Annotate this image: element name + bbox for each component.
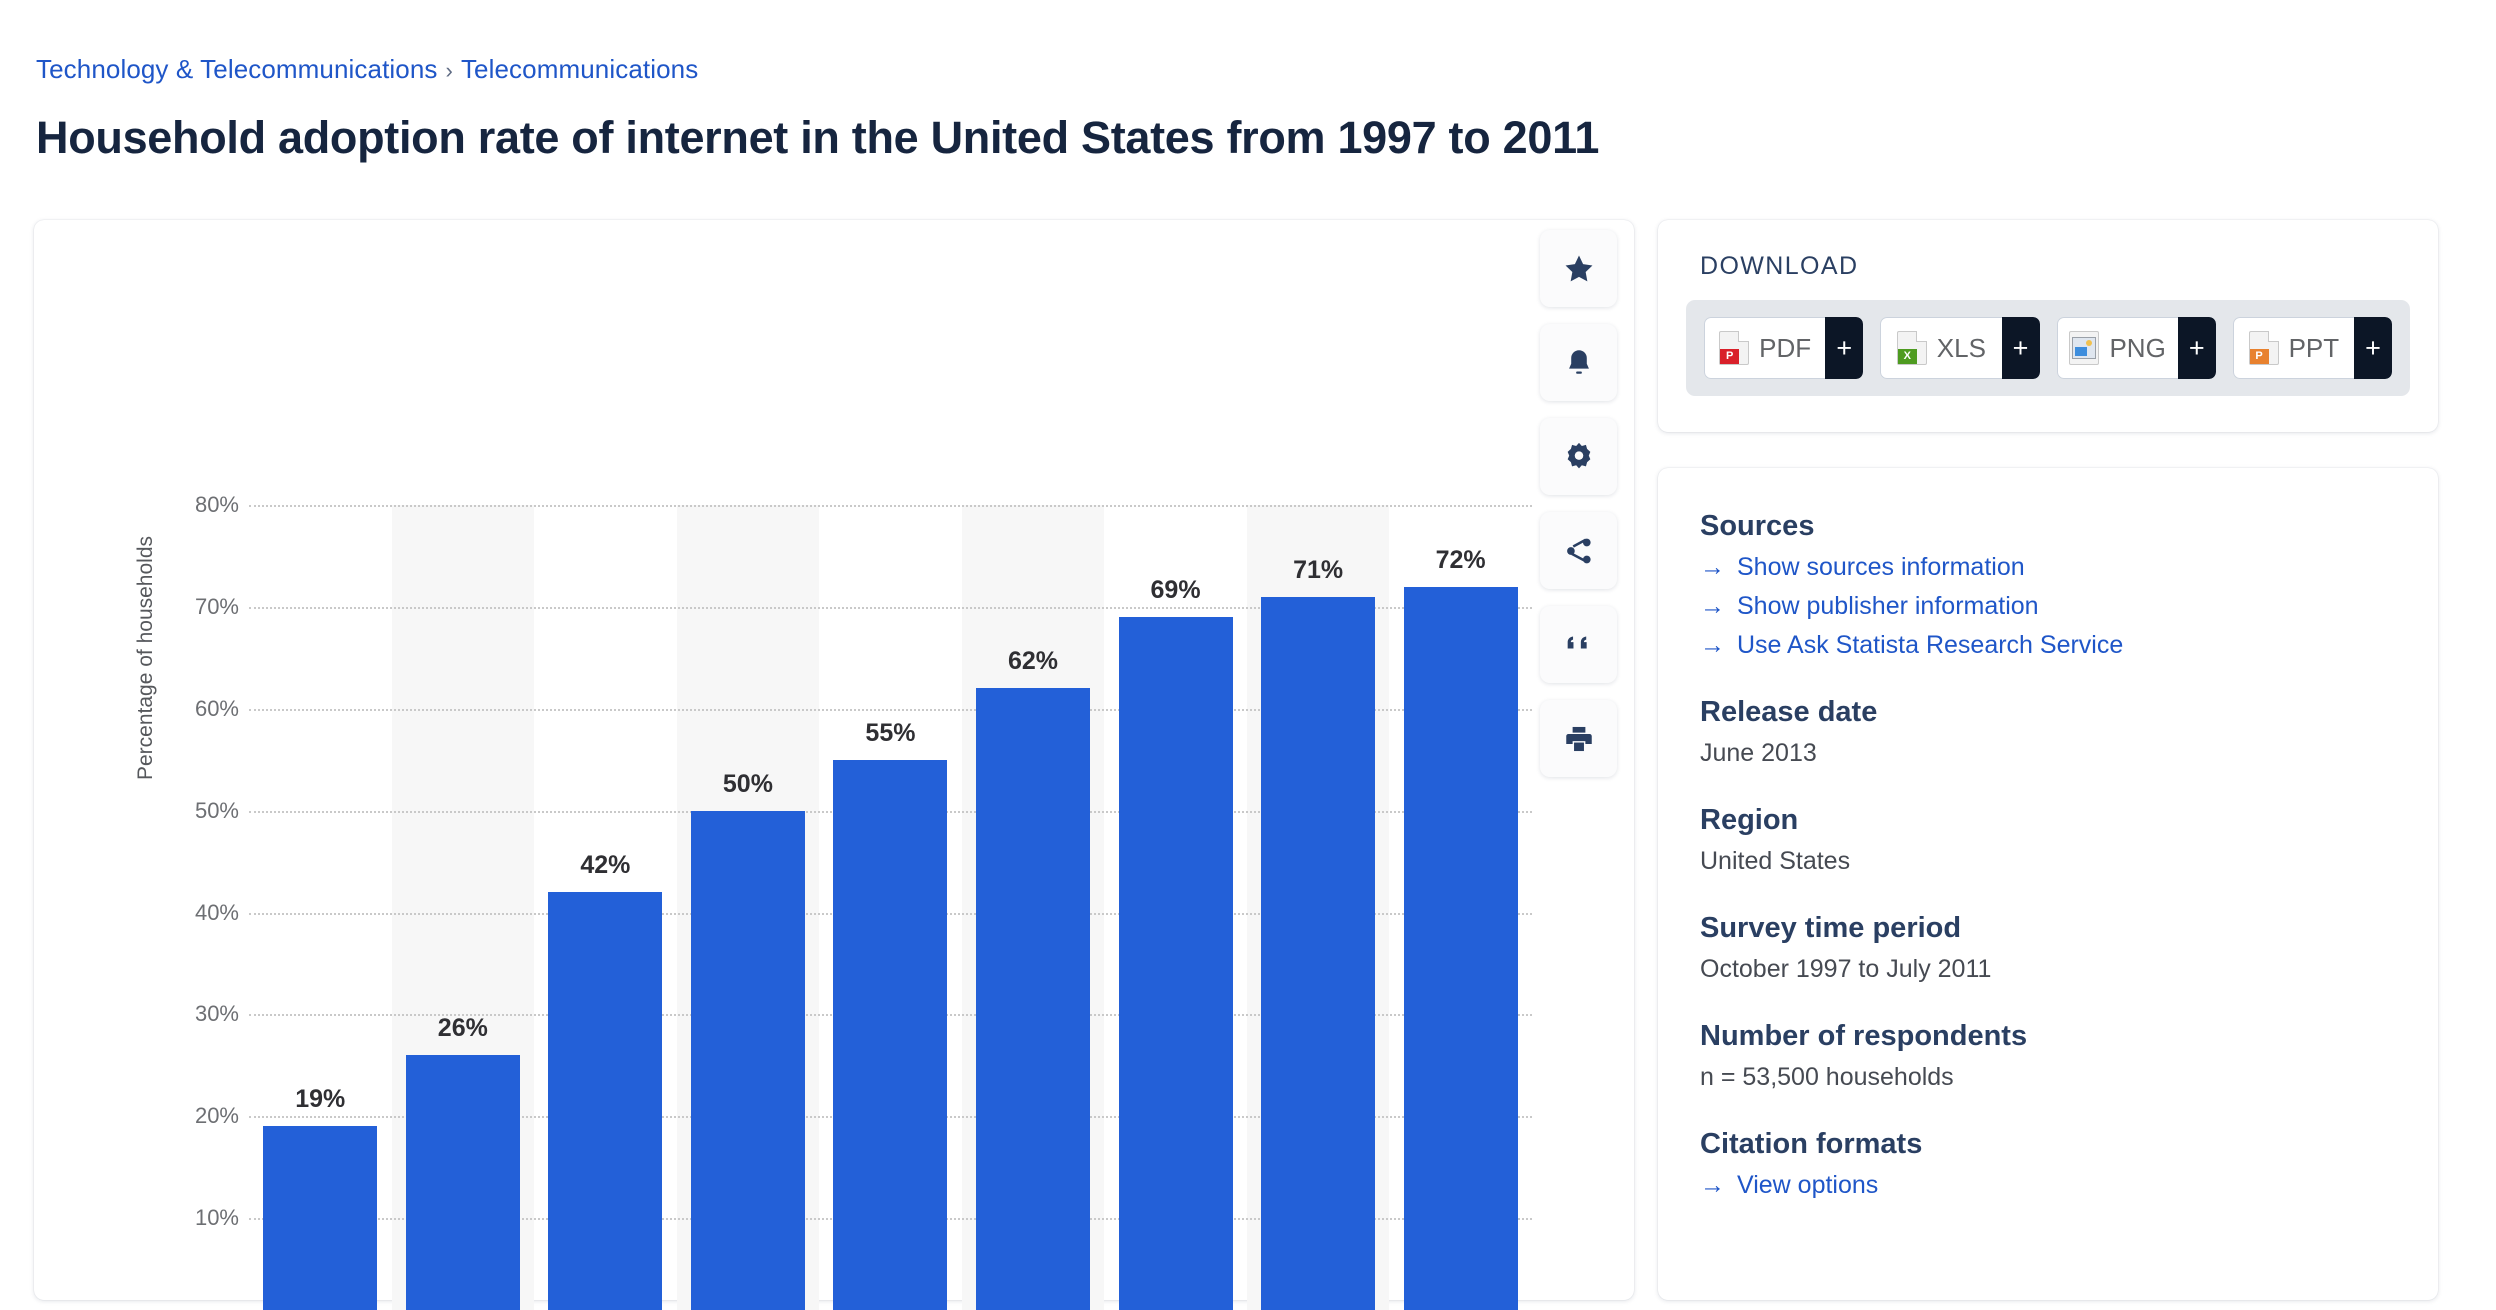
sources-links: →Show sources information→Show publisher…: [1700, 553, 2402, 660]
bar-item[interactable]: 42%: [534, 505, 677, 1310]
bar[interactable]: [1261, 597, 1375, 1310]
bar[interactable]: [691, 811, 805, 1310]
sources-link-label: Use Ask Statista Research Service: [1737, 631, 2123, 660]
share-icon: [1562, 534, 1596, 568]
download-card: DOWNLOAD PPDF+XXLS+PNG+PPPT+: [1658, 220, 2438, 432]
share-button[interactable]: [1540, 512, 1617, 589]
breadcrumb-item-subcategory[interactable]: Telecommunications: [461, 54, 698, 84]
bar-item[interactable]: 69%: [1104, 505, 1247, 1310]
bar-value-label: 26%: [438, 1014, 488, 1043]
sources-link-2[interactable]: →Use Ask Statista Research Service: [1700, 631, 2402, 660]
sources-field-label: Number of respondents: [1700, 1020, 2402, 1053]
gear-icon: [1562, 440, 1596, 474]
sources-field-label: Survey time period: [1700, 912, 2402, 945]
sources-field-value: June 2013: [1700, 739, 2402, 768]
chart-card: Percentage of households 19%26%42%50%55%…: [34, 220, 1634, 1300]
ppt-file-icon: P: [2249, 331, 2279, 365]
download-png-label: PNG: [2109, 333, 2165, 364]
download-png-main[interactable]: PNG: [2057, 317, 2178, 379]
y-axis-tick-label: 70%: [195, 594, 239, 620]
favorite-button[interactable]: [1540, 230, 1617, 307]
bar[interactable]: [406, 1055, 520, 1310]
settings-button[interactable]: [1540, 418, 1617, 495]
citation-button[interactable]: [1540, 606, 1617, 683]
chart-plot-wrapper: Percentage of households 19%26%42%50%55%…: [34, 220, 1534, 1230]
bar[interactable]: [263, 1126, 377, 1310]
bar[interactable]: [976, 688, 1090, 1310]
download-pdf-plus-button[interactable]: +: [1825, 317, 1863, 379]
bar-item[interactable]: 50%: [677, 505, 820, 1310]
plot-area: 19%26%42%50%55%62%69%71%72%: [249, 505, 1532, 1310]
bar-item[interactable]: 55%: [819, 505, 962, 1310]
download-pdf-main[interactable]: PPDF: [1704, 317, 1825, 379]
y-axis-tick-label: 60%: [195, 696, 239, 722]
y-axis-tick-label: 30%: [195, 1001, 239, 1027]
y-axis-tick-label: 40%: [195, 900, 239, 926]
xls-file-icon: X: [1897, 331, 1927, 365]
bar[interactable]: [1404, 587, 1518, 1310]
sources-link-label: Show publisher information: [1737, 592, 2039, 621]
bell-icon: [1562, 346, 1596, 380]
bar[interactable]: [1119, 617, 1233, 1310]
bar-value-label: 42%: [580, 851, 630, 880]
quote-icon: [1562, 628, 1596, 662]
breadcrumb-item-category[interactable]: Technology & Telecommunications: [36, 54, 438, 84]
download-png-button[interactable]: PNG+: [2057, 317, 2216, 379]
png-file-icon: [2069, 331, 2099, 365]
arrow-icon: →: [1700, 1173, 1725, 1198]
bar-item[interactable]: 26%: [392, 505, 535, 1310]
download-ppt-button[interactable]: PPPT+: [2233, 317, 2392, 379]
sources-field-value: United States: [1700, 847, 2402, 876]
sources-field-label: Release date: [1700, 696, 2402, 729]
chart-toolbar: [1540, 230, 1617, 777]
bar-value-label: 50%: [723, 770, 773, 799]
citation-view-options-label: View options: [1737, 1171, 1878, 1200]
sources-heading: Sources: [1700, 510, 2402, 543]
bar[interactable]: [548, 892, 662, 1310]
page-title: Household adoption rate of internet in t…: [36, 112, 1599, 164]
bar-item[interactable]: 62%: [962, 505, 1105, 1310]
bar[interactable]: [833, 760, 947, 1310]
download-heading: DOWNLOAD: [1700, 252, 1858, 281]
bar-series: 19%26%42%50%55%62%69%71%72%: [249, 505, 1532, 1310]
download-button-row: PPDF+XXLS+PNG+PPPT+: [1686, 300, 2410, 396]
citation-formats-heading: Citation formats: [1700, 1128, 2402, 1161]
download-xls-plus-button[interactable]: +: [2002, 317, 2040, 379]
bar-value-label: 69%: [1151, 576, 1201, 605]
y-axis-tick-label: 50%: [195, 798, 239, 824]
download-xls-label: XLS: [1937, 333, 1986, 364]
breadcrumb: Technology & Telecommunications›Telecomm…: [36, 54, 698, 85]
bar-value-label: 72%: [1436, 546, 1486, 575]
breadcrumb-separator: ›: [446, 58, 453, 83]
print-icon: [1562, 722, 1596, 756]
statista-chart-page: Technology & Telecommunications›Telecomm…: [0, 0, 2496, 1310]
bar-item[interactable]: 71%: [1247, 505, 1390, 1310]
download-pdf-label: PDF: [1759, 333, 1811, 364]
bar-value-label: 55%: [865, 719, 915, 748]
download-pdf-button[interactable]: PPDF+: [1704, 317, 1863, 379]
y-axis-tick-label: 80%: [195, 492, 239, 518]
download-png-plus-button[interactable]: +: [2178, 317, 2216, 379]
sources-card: Sources →Show sources information→Show p…: [1658, 468, 2438, 1300]
pdf-file-icon: P: [1719, 331, 1749, 365]
bar-value-label: 71%: [1293, 556, 1343, 585]
y-axis-title: Percentage of households: [134, 536, 158, 780]
star-icon: [1562, 252, 1596, 286]
sources-field-value: October 1997 to July 2011: [1700, 955, 2402, 984]
bar-item[interactable]: 19%: [249, 505, 392, 1310]
sources-link-1[interactable]: →Show publisher information: [1700, 592, 2402, 621]
arrow-icon: →: [1700, 594, 1725, 619]
print-button[interactable]: [1540, 700, 1617, 777]
sources-link-label: Show sources information: [1737, 553, 2025, 582]
sources-field-label: Region: [1700, 804, 2402, 837]
download-ppt-main[interactable]: PPPT: [2233, 317, 2354, 379]
citation-view-options-link[interactable]: → View options: [1700, 1171, 2402, 1200]
download-xls-main[interactable]: XXLS: [1880, 317, 2001, 379]
bar-item[interactable]: 72%: [1389, 505, 1532, 1310]
download-xls-button[interactable]: XXLS+: [1880, 317, 2039, 379]
arrow-icon: →: [1700, 633, 1725, 658]
sources-link-0[interactable]: →Show sources information: [1700, 553, 2402, 582]
alert-button[interactable]: [1540, 324, 1617, 401]
y-axis-tick-label: 20%: [195, 1103, 239, 1129]
sources-fields: Release dateJune 2013RegionUnited States…: [1700, 696, 2402, 1092]
download-ppt-plus-button[interactable]: +: [2354, 317, 2392, 379]
sources-field-value: n = 53,500 households: [1700, 1063, 2402, 1092]
bar-value-label: 62%: [1008, 647, 1058, 676]
arrow-icon: →: [1700, 555, 1725, 580]
y-axis-tick-label: 10%: [195, 1205, 239, 1231]
download-ppt-label: PPT: [2289, 333, 2340, 364]
bar-value-label: 19%: [295, 1085, 345, 1114]
